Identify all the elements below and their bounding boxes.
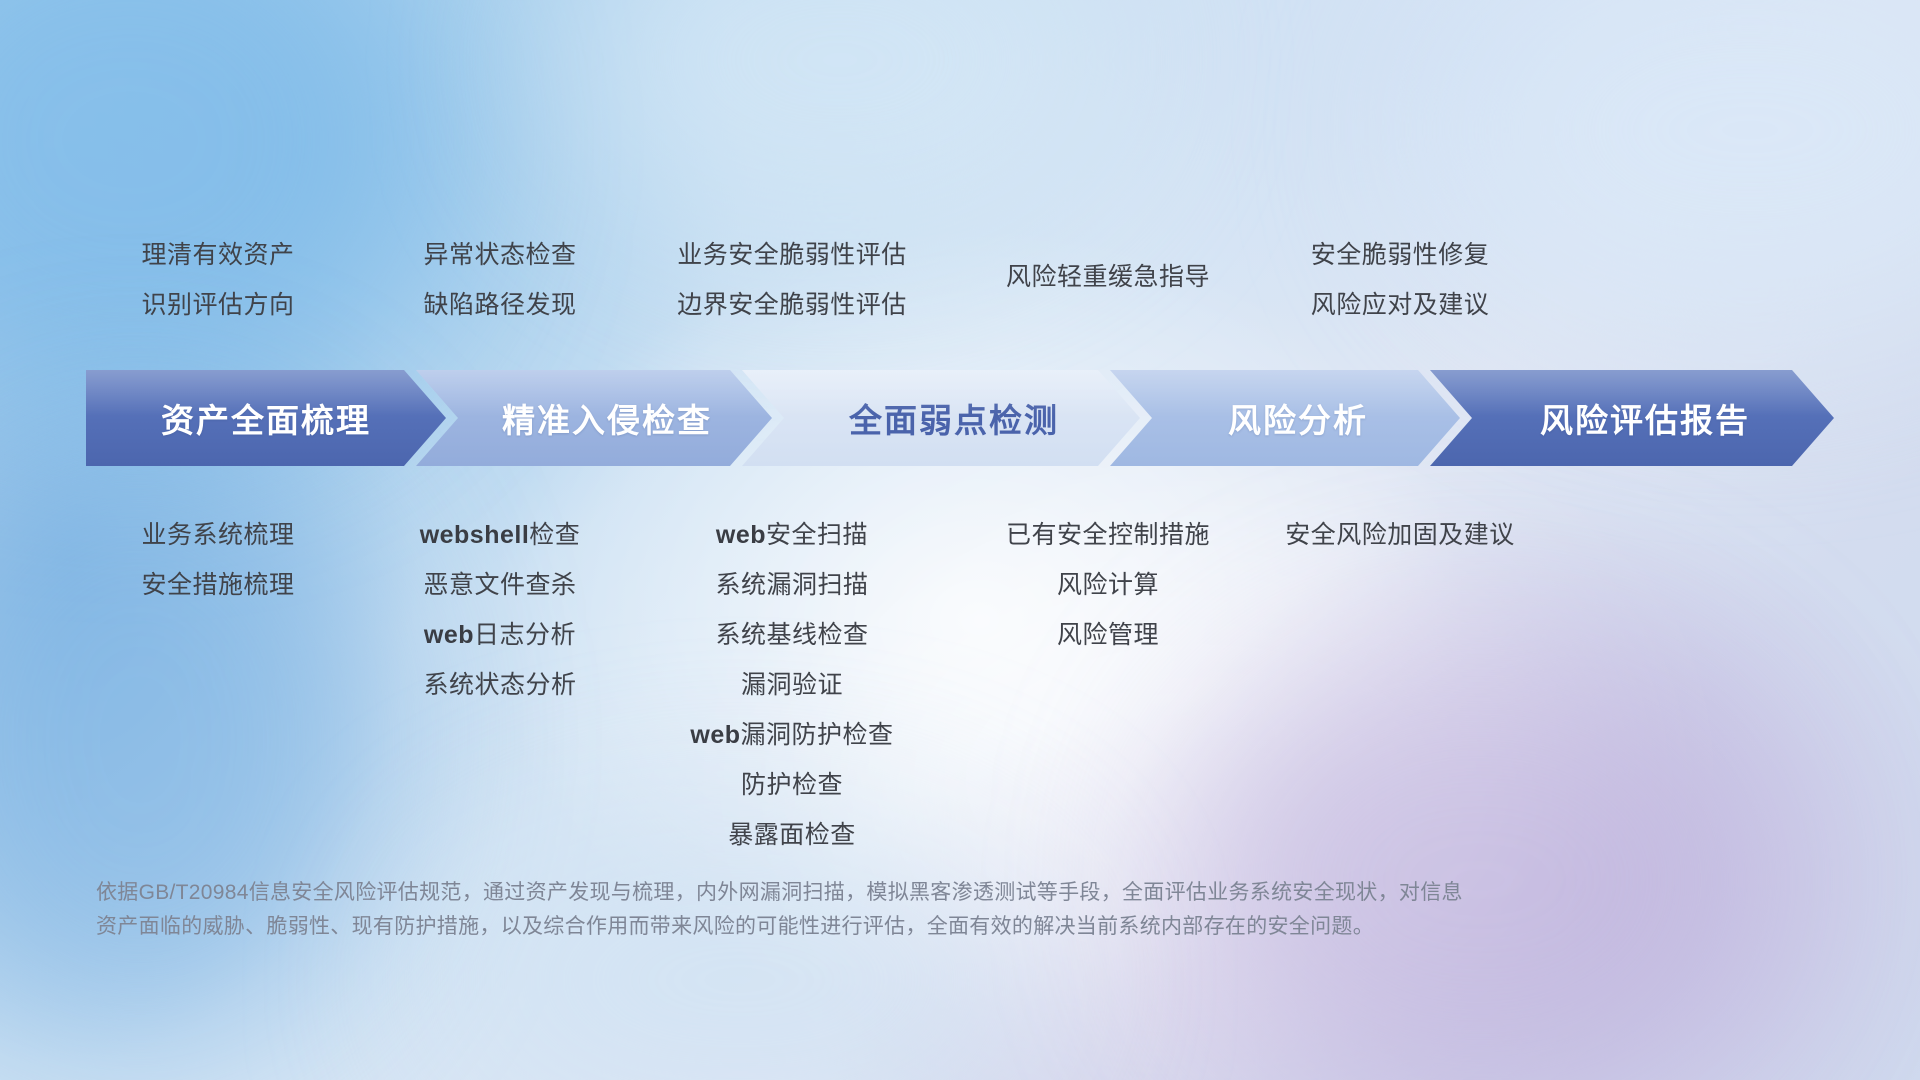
stage-detail-text: 漏洞验证 bbox=[741, 671, 843, 699]
stage-detail-line: 安全风险加固及建议 bbox=[1160, 510, 1640, 560]
stage-detail-line: 漏洞验证 bbox=[552, 660, 1032, 710]
stage-detail-text: 风险管理 bbox=[1057, 621, 1159, 649]
stage-detail-text: 安全扫描 bbox=[766, 521, 868, 549]
stage-detail-keyword: web bbox=[690, 721, 740, 749]
stage-detail-keyword: web bbox=[424, 621, 474, 649]
process-arrow-risk-analysis[interactable]: 风险分析 bbox=[1110, 370, 1460, 466]
process-arrow-label: 全面弱点检测 bbox=[742, 394, 1140, 442]
stage-detail-text: 漏洞防护检查 bbox=[741, 721, 894, 749]
slide-canvas: 理清有效资产识别评估方向异常状态检查缺陷路径发现业务安全脆弱性评估边界安全脆弱性… bbox=[0, 0, 1920, 1080]
footer-note-line-1: 依据GB/T20984信息安全风险评估规范，通过资产发现与梳理，内外网漏洞扫描，… bbox=[96, 876, 1656, 910]
stage-detail-line: 防护检查 bbox=[552, 760, 1032, 810]
process-arrow-risk-report[interactable]: 风险评估报告 bbox=[1430, 370, 1834, 466]
slide-content: 理清有效资产识别评估方向异常状态检查缺陷路径发现业务安全脆弱性评估边界安全脆弱性… bbox=[0, 0, 1920, 1080]
stage-detail-keyword: web bbox=[716, 521, 766, 549]
process-arrow-label: 资产全面梳理 bbox=[86, 394, 446, 442]
stage-detail-line: 暴露面检查 bbox=[552, 810, 1032, 860]
stage-caption-line: 风险应对及建议 bbox=[1160, 280, 1640, 330]
stage-detail-text: 系统漏洞扫描 bbox=[715, 571, 868, 599]
stage-detail-text: 风险计算 bbox=[1057, 571, 1159, 599]
stage-detail-text: 防护检查 bbox=[741, 771, 843, 799]
stage-detail-text: 系统基线检查 bbox=[715, 621, 868, 649]
process-arrow-band: 资产全面梳理精准入侵检查全面弱点检测风险分析风险评估报告 bbox=[86, 370, 1834, 466]
stage-detail-text: 安全风险加固及建议 bbox=[1285, 521, 1515, 549]
stage-detail-line: 风险管理 bbox=[868, 610, 1348, 660]
stage-detail-keyword: webshell bbox=[420, 521, 530, 549]
footer-note: 依据GB/T20984信息安全风险评估规范，通过资产发现与梳理，内外网漏洞扫描，… bbox=[96, 876, 1656, 944]
stage-detail-line: 风险计算 bbox=[868, 560, 1348, 610]
process-arrow-asset-inventory[interactable]: 资产全面梳理 bbox=[86, 370, 446, 466]
process-arrow-label: 精准入侵检查 bbox=[416, 394, 772, 442]
footer-note-line-2: 资产面临的威胁、脆弱性、现有防护措施，以及综合作用而带来风险的可能性进行评估，全… bbox=[96, 910, 1656, 944]
process-arrow-intrusion-check[interactable]: 精准入侵检查 bbox=[416, 370, 772, 466]
process-arrow-label: 风险评估报告 bbox=[1430, 394, 1834, 442]
process-arrow-weakness-detection[interactable]: 全面弱点检测 bbox=[742, 370, 1140, 466]
stage-caption-line: 安全脆弱性修复 bbox=[1160, 230, 1640, 280]
stage-detail-group-risk-report: 安全风险加固及建议 bbox=[1160, 510, 1640, 560]
stage-caption-group-risk-report: 安全脆弱性修复风险应对及建议 bbox=[1160, 230, 1640, 330]
stage-detail-line: web漏洞防护检查 bbox=[552, 710, 1032, 760]
stage-detail-text: 暴露面检查 bbox=[728, 821, 856, 849]
process-arrow-label: 风险分析 bbox=[1110, 394, 1460, 442]
